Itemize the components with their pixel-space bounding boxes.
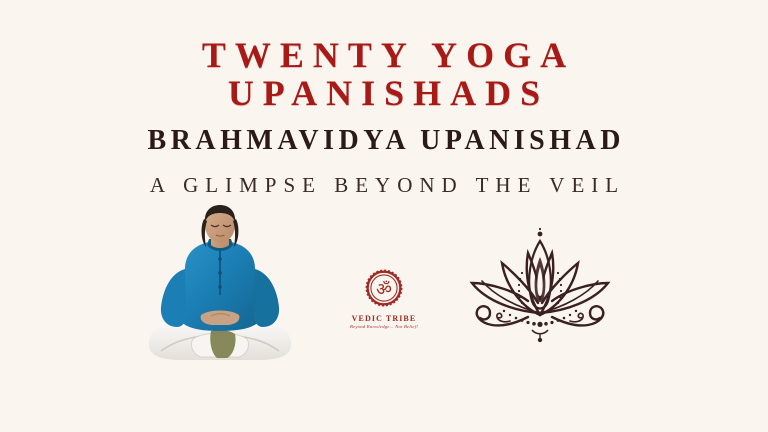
om-symbol-icon: ॐ [364, 268, 404, 308]
logo-wordmark: VEDIC TRIBE [338, 314, 430, 323]
hands-in-lap [201, 311, 240, 326]
logo-tagline: Beyond Knowledge... Not Belief! [338, 324, 430, 329]
kurta-button-2 [218, 271, 221, 274]
lotus-mandala-ornament [452, 227, 628, 345]
lotus-ornament-graphic [452, 227, 628, 345]
svg-text:ॐ: ॐ [376, 280, 392, 300]
meditating-man-photo [131, 203, 309, 371]
presentation-slide: TWENTY YOGA UPANISHADS BRAHMAVIDYA UPANI… [0, 0, 768, 432]
kurta-button-1 [218, 257, 221, 260]
kurta-button-3 [218, 285, 221, 288]
title-block: TWENTY YOGA UPANISHADS BRAHMAVIDYA UPANI… [0, 36, 768, 198]
page-title-line-1: TWENTY YOGA [0, 36, 768, 74]
tagline-text: A GLIMPSE BEYOND THE VEIL [0, 172, 768, 198]
subtitle-upanishad-name: BRAHMAVIDYA UPANISHAD [0, 124, 768, 158]
vedic-tribe-logo[interactable]: ॐ VEDIC TRIBE Beyond Knowledge... Not Be… [338, 268, 430, 334]
meditation-figure-illustration [131, 203, 309, 371]
page-title-line-2: UPANISHADS [0, 74, 768, 112]
kurta-right-sleeve [254, 269, 279, 327]
kurta-left-sleeve [161, 269, 186, 327]
